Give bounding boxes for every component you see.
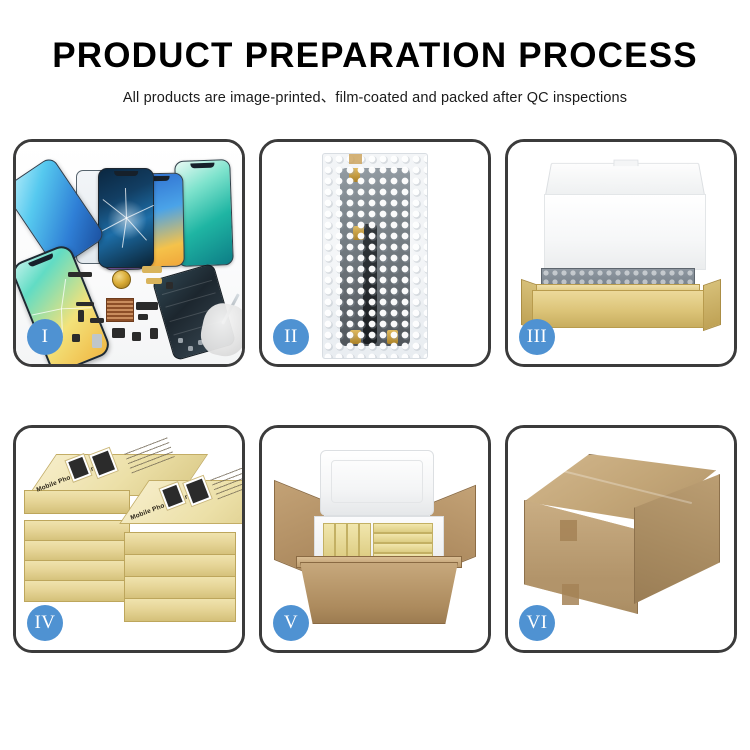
styrofoam-lid-icon — [320, 450, 434, 516]
process-step-card-6[interactable]: VI — [505, 425, 737, 653]
seal-tape-icon — [349, 153, 362, 164]
packed-box — [373, 543, 433, 553]
packed-box — [335, 523, 347, 559]
flex-cable-icon — [146, 278, 162, 284]
process-step-card-4[interactable]: Mobile Phone Spare Parts Mobile Phone Sp… — [13, 425, 245, 653]
ic-chip-icon — [106, 298, 134, 322]
packed-box — [347, 523, 359, 559]
carton-front-icon — [300, 562, 458, 624]
kraft-box-front-icon — [532, 290, 704, 328]
packed-box — [323, 523, 335, 559]
box-right-side-icon — [703, 279, 721, 331]
page-title: PRODUCT PREPARATION PROCESS — [0, 38, 750, 75]
packed-box — [359, 523, 371, 559]
screw-icon — [178, 338, 183, 343]
step-badge-6: VI — [519, 605, 555, 641]
step-badge-1: I — [27, 319, 63, 355]
component-bar-icon — [76, 302, 94, 306]
box-edge — [124, 554, 236, 578]
component-chip-icon — [150, 328, 158, 339]
screw-icon — [188, 346, 193, 351]
box-edge — [24, 540, 130, 562]
page-header: PRODUCT PREPARATION PROCESS All products… — [0, 0, 750, 107]
component-chip-icon — [90, 318, 104, 323]
battery-connector-icon — [92, 334, 102, 348]
box-edge — [124, 576, 236, 600]
step-badge-4: IV — [27, 605, 63, 641]
bubble-wrap-bag-icon — [322, 153, 428, 359]
packed-box — [373, 533, 433, 543]
component-bar-icon — [68, 272, 92, 277]
process-step-card-2[interactable]: II — [259, 139, 491, 367]
process-step-card-1[interactable]: I — [13, 139, 245, 367]
step-badge-3: III — [519, 319, 555, 355]
flex-cable-icon — [142, 266, 162, 273]
foam-sheet-icon — [544, 194, 706, 270]
box-edge — [24, 490, 130, 514]
carton-tape-square-icon — [562, 584, 579, 605]
box-edge — [24, 560, 130, 582]
page-subtitle: All products are image-printed、film-coat… — [0, 86, 750, 107]
speaker-component-icon — [112, 270, 131, 289]
process-step-card-5[interactable]: V — [259, 425, 491, 653]
process-step-grid: I II III — [13, 139, 737, 653]
component-chip-icon — [132, 332, 141, 341]
box-lid-icon — [545, 163, 706, 197]
packed-box — [373, 523, 433, 533]
step-badge-5: V — [273, 605, 309, 641]
step-badge-2: II — [273, 319, 309, 355]
component-chip-icon — [72, 334, 80, 342]
box-edge — [124, 532, 236, 556]
process-step-card-3[interactable]: III — [505, 139, 737, 367]
phone-cracked-screen-icon — [98, 168, 154, 268]
component-chip-icon — [112, 328, 125, 338]
box-edge — [24, 520, 130, 542]
screw-icon — [166, 282, 173, 289]
component-chip-icon — [78, 310, 84, 322]
box-edge — [24, 580, 130, 602]
camera-module-icon — [136, 302, 158, 310]
component-chip-icon — [138, 314, 148, 320]
bubble-texture-icon — [323, 154, 427, 358]
box-edge — [124, 598, 236, 622]
carton-tape-square-icon — [560, 520, 577, 541]
